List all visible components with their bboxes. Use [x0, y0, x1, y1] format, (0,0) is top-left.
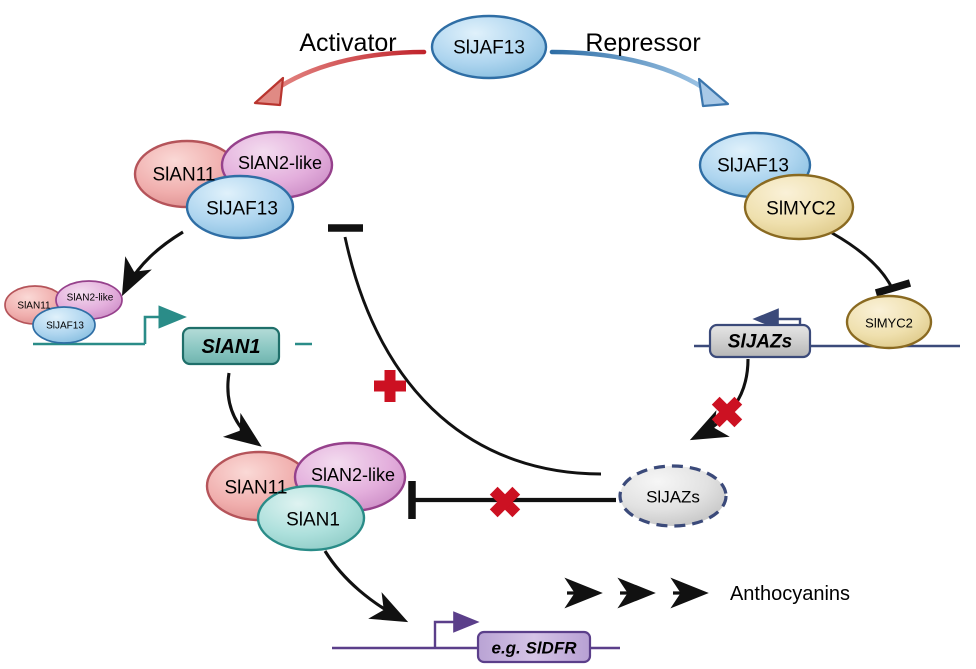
label-slan11-small: SlAN11 — [17, 301, 51, 312]
label-sljaf13-right: SlJAF13 — [717, 156, 789, 177]
label-gene-sljazs: SlJAZs — [728, 332, 792, 353]
complex-to-dfr-arrow — [325, 551, 404, 620]
label-slan11-top: SlAN11 — [152, 165, 215, 186]
diagram-svg: SlJAF13 SlAN11 SlAN2-like SlJAF13 SlAN11… — [0, 0, 976, 669]
label-slan11-bottom: SlAN11 — [224, 478, 287, 499]
label-slmyc2-free: SlMYC2 — [865, 316, 913, 331]
label-sljazs-protein: SlJAZs — [646, 488, 700, 507]
complex-right — [700, 133, 853, 239]
label-gene-slan1: SlAN1 — [202, 336, 261, 358]
label-activator: Activator — [299, 29, 396, 57]
label-slan2like-bottom: SlAN2-like — [311, 465, 395, 485]
complex-small-left — [5, 281, 122, 343]
jazs-inhibits-top-complex — [328, 228, 601, 474]
label-repressor: Repressor — [585, 29, 700, 57]
repressor-arrow — [552, 52, 728, 106]
label-slan1-bottom: SlAN1 — [286, 510, 340, 531]
label-sljaf13-top: SlJAF13 — [206, 199, 278, 220]
label-sljaf13-master: SlJAF13 — [453, 38, 525, 59]
label-slmyc2-right: SlMYC2 — [766, 199, 836, 220]
activator-arrow — [255, 52, 424, 105]
label-gene-sldfr: e.g. SlDFR — [491, 639, 577, 658]
complex-to-promoter-arrow — [124, 232, 183, 292]
an1-gene-to-complex-arrow — [228, 373, 258, 444]
label-sljaf13-small: SlJAF13 — [46, 321, 84, 332]
myc2-complex-inhibits-myc2 — [832, 233, 910, 293]
pathway-diagram: SlJAF13 SlAN11 SlAN2-like SlJAF13 SlAN11… — [0, 0, 976, 669]
label-slan2like-top: SlAN2-like — [238, 153, 322, 173]
label-slan2like-small: SlAN2-like — [67, 293, 114, 304]
label-anthocyanins: Anthocyanins — [730, 583, 850, 605]
